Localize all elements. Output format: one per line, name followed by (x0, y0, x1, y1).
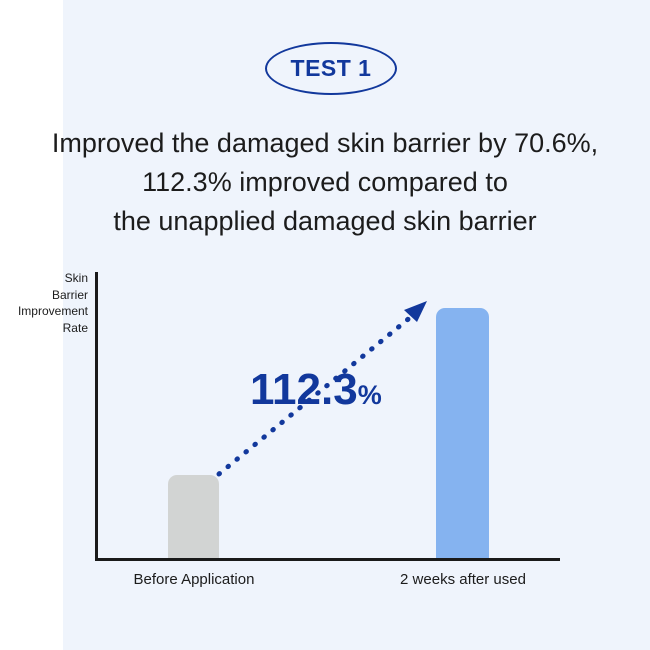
bar-2-weeks-after-used (436, 308, 489, 558)
bar-before-application (168, 475, 219, 558)
x-axis-line (95, 558, 560, 561)
promo-infographic: TEST 1 Improved the damaged skin barrier… (0, 0, 650, 650)
y-axis-title-line-1: Skin (0, 270, 88, 287)
y-axis-title: Skin Barrier Improvement Rate (0, 270, 88, 336)
x-tick-label-after: 2 weeks after used (352, 571, 574, 588)
growth-percentage-sign: % (358, 380, 382, 410)
y-axis-title-line-4: Rate (0, 320, 88, 337)
y-axis-title-line-3: Improvement (0, 303, 88, 320)
y-axis-line (95, 272, 98, 561)
y-axis-title-line-2: Barrier (0, 287, 88, 304)
growth-percentage-label: 112.3% (250, 368, 382, 417)
bar-chart: Skin Barrier Improvement Rate 112.3% Bef… (0, 0, 650, 650)
x-tick-label-before: Before Application (83, 571, 305, 588)
growth-percentage-number: 112.3 (250, 365, 358, 414)
